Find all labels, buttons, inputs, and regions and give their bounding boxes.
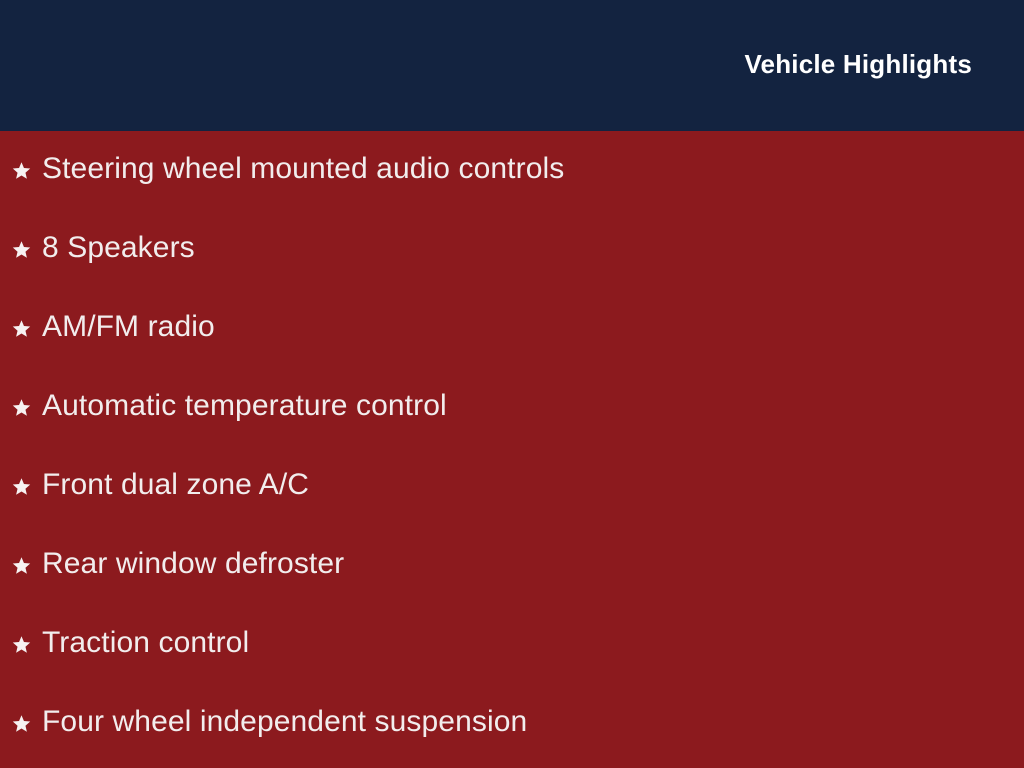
list-item: Rear window defroster [12,545,344,585]
list-item: Automatic temperature control [12,387,447,427]
list-item: Traction control [12,624,249,664]
list-item-label: Rear window defroster [42,549,344,579]
star-icon [12,635,31,654]
list-item: Front dual zone A/C [12,466,309,506]
slide-canvas: Vehicle Highlights Steering wheel mounte… [0,0,1024,768]
list-item-label: Traction control [42,628,249,658]
star-icon [12,477,31,496]
slide-header-band: Vehicle Highlights [0,0,1024,131]
page-title: Vehicle Highlights [744,51,972,77]
star-icon [12,319,31,338]
list-item: Steering wheel mounted audio controls [12,150,564,190]
list-item: Four wheel independent suspension [12,703,527,743]
star-icon [12,714,31,733]
list-item-label: Automatic temperature control [42,391,447,421]
star-icon [12,161,31,180]
star-icon [12,240,31,259]
star-icon [12,398,31,417]
list-item-label: Steering wheel mounted audio controls [42,154,564,184]
list-item-label: 8 Speakers [42,233,195,263]
list-item-label: AM/FM radio [42,312,215,342]
list-item: 8 Speakers [12,229,195,269]
list-item-label: Front dual zone A/C [42,470,309,500]
star-icon [12,556,31,575]
list-item: AM/FM radio [12,308,215,348]
list-item-label: Four wheel independent suspension [42,707,527,737]
vehicle-highlights-list: Steering wheel mounted audio controls 8 … [0,131,1024,768]
